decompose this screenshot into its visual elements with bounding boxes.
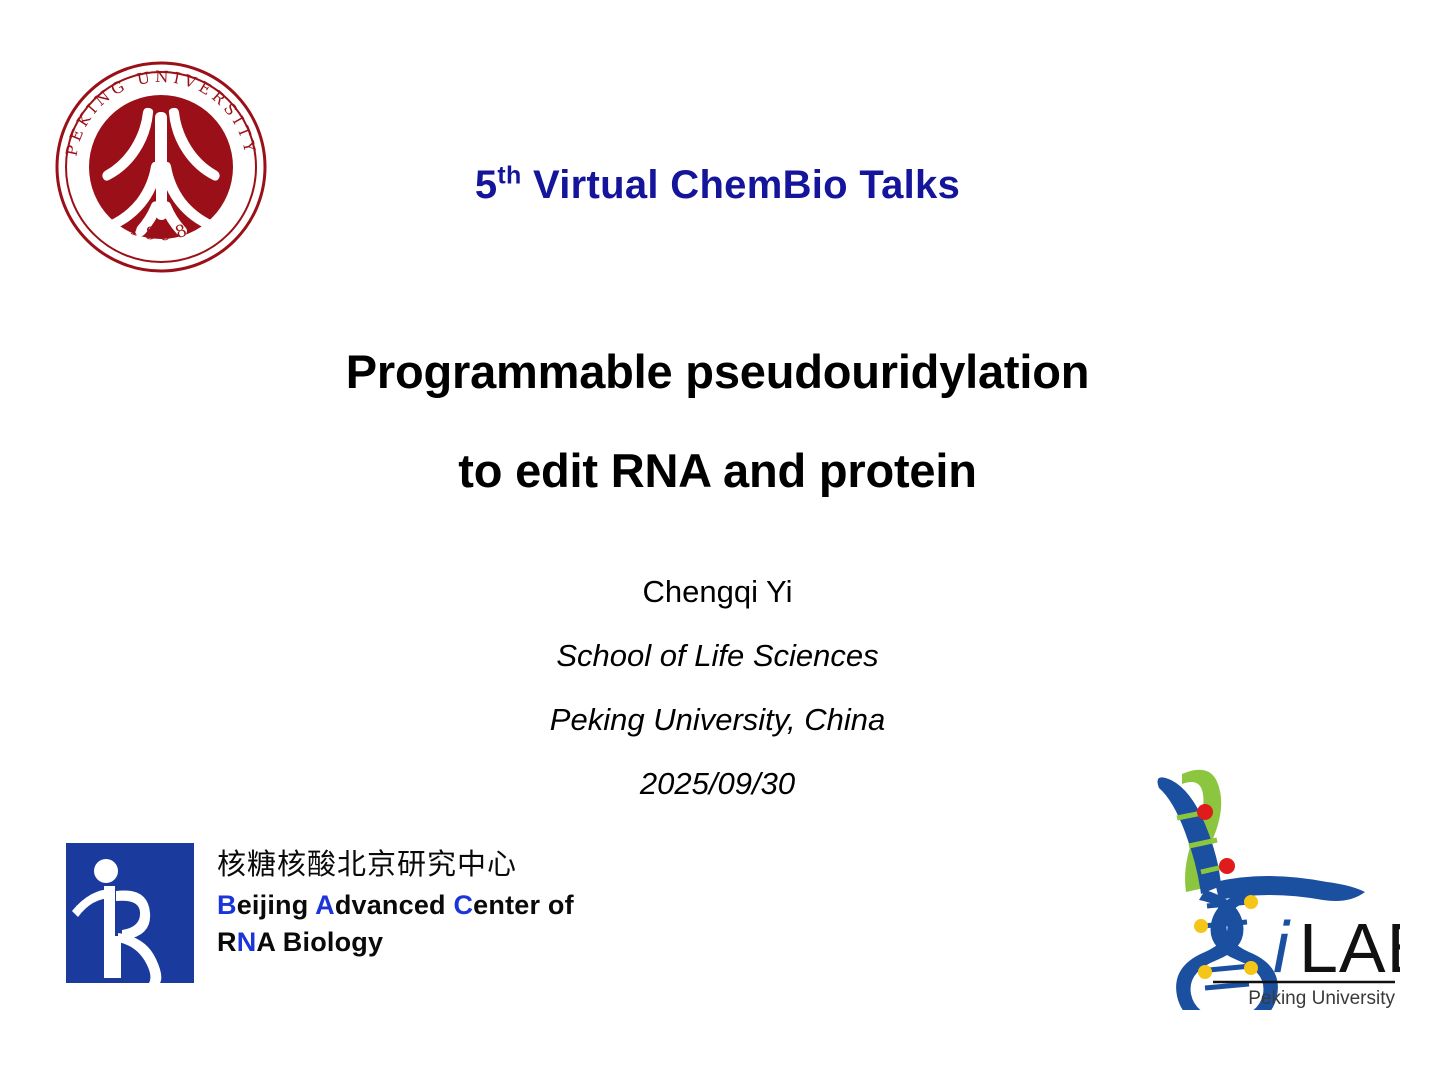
bacrb-logo-mark <box>66 843 194 983</box>
bacrb-chinese-name: 核糖核酸北京研究中心 <box>217 845 574 884</box>
bacrb-highlight-c: C <box>453 890 473 920</box>
bacrb-english-line1: Beijing Advanced Center of <box>217 887 574 924</box>
bacrb-r: R <box>217 927 237 957</box>
bacrb-eijing: eijing <box>237 890 315 920</box>
author-name: Chengqi Yi <box>0 560 1435 624</box>
bacrb-logo: 核糖核酸北京研究中心 Beijing Advanced Center of RN… <box>66 843 574 983</box>
ilab-lab-letters: LAB <box>1299 909 1400 987</box>
ilab-logo: i LAB Peking University <box>1155 760 1400 1010</box>
ilab-red-dot-top <box>1197 804 1213 820</box>
event-title-ordinal: th <box>497 162 521 190</box>
ilab-i-letter: i <box>1273 908 1291 988</box>
ilab-subtitle: Peking University <box>1248 988 1395 1009</box>
ilab-yellow-dot-3 <box>1198 965 1212 979</box>
bacrb-highlight-a: A <box>315 890 335 920</box>
event-title-rest: Virtual ChemBio Talks <box>522 163 961 207</box>
page-title: Programmable pseudouridylation to edit R… <box>0 322 1435 520</box>
bacrb-dvanced: dvanced <box>335 890 454 920</box>
bacrb-a-biology: A Biology <box>256 927 383 957</box>
ilab-yellow-dot-2 <box>1194 919 1208 933</box>
presentation-slide: PEKING UNIVERSITY 1898 5th Virtual ChemB… <box>0 0 1435 1079</box>
bacrb-highlight-n: N <box>237 927 257 957</box>
talk-title-line1: Programmable pseudouridylation <box>0 322 1435 421</box>
bacrb-enter-of: enter of <box>473 890 574 920</box>
author-affiliation-university: Peking University, China <box>0 688 1435 752</box>
event-title-number: 5 <box>475 163 498 207</box>
ilab-yellow-dot-4 <box>1244 961 1258 975</box>
ilab-yellow-dot-1 <box>1244 895 1258 909</box>
author-affiliation-school: School of Life Sciences <box>0 624 1435 688</box>
talk-title-line2: to edit RNA and protein <box>0 421 1435 520</box>
bacrb-english-line2: RNA Biology <box>217 924 574 961</box>
bacrb-highlight-b: B <box>217 890 237 920</box>
bacrb-logo-text: 核糖核酸北京研究中心 Beijing Advanced Center of RN… <box>217 843 574 961</box>
event-title: 5th Virtual ChemBio Talks <box>0 163 1435 208</box>
ilab-red-dot-bottom <box>1219 858 1235 874</box>
